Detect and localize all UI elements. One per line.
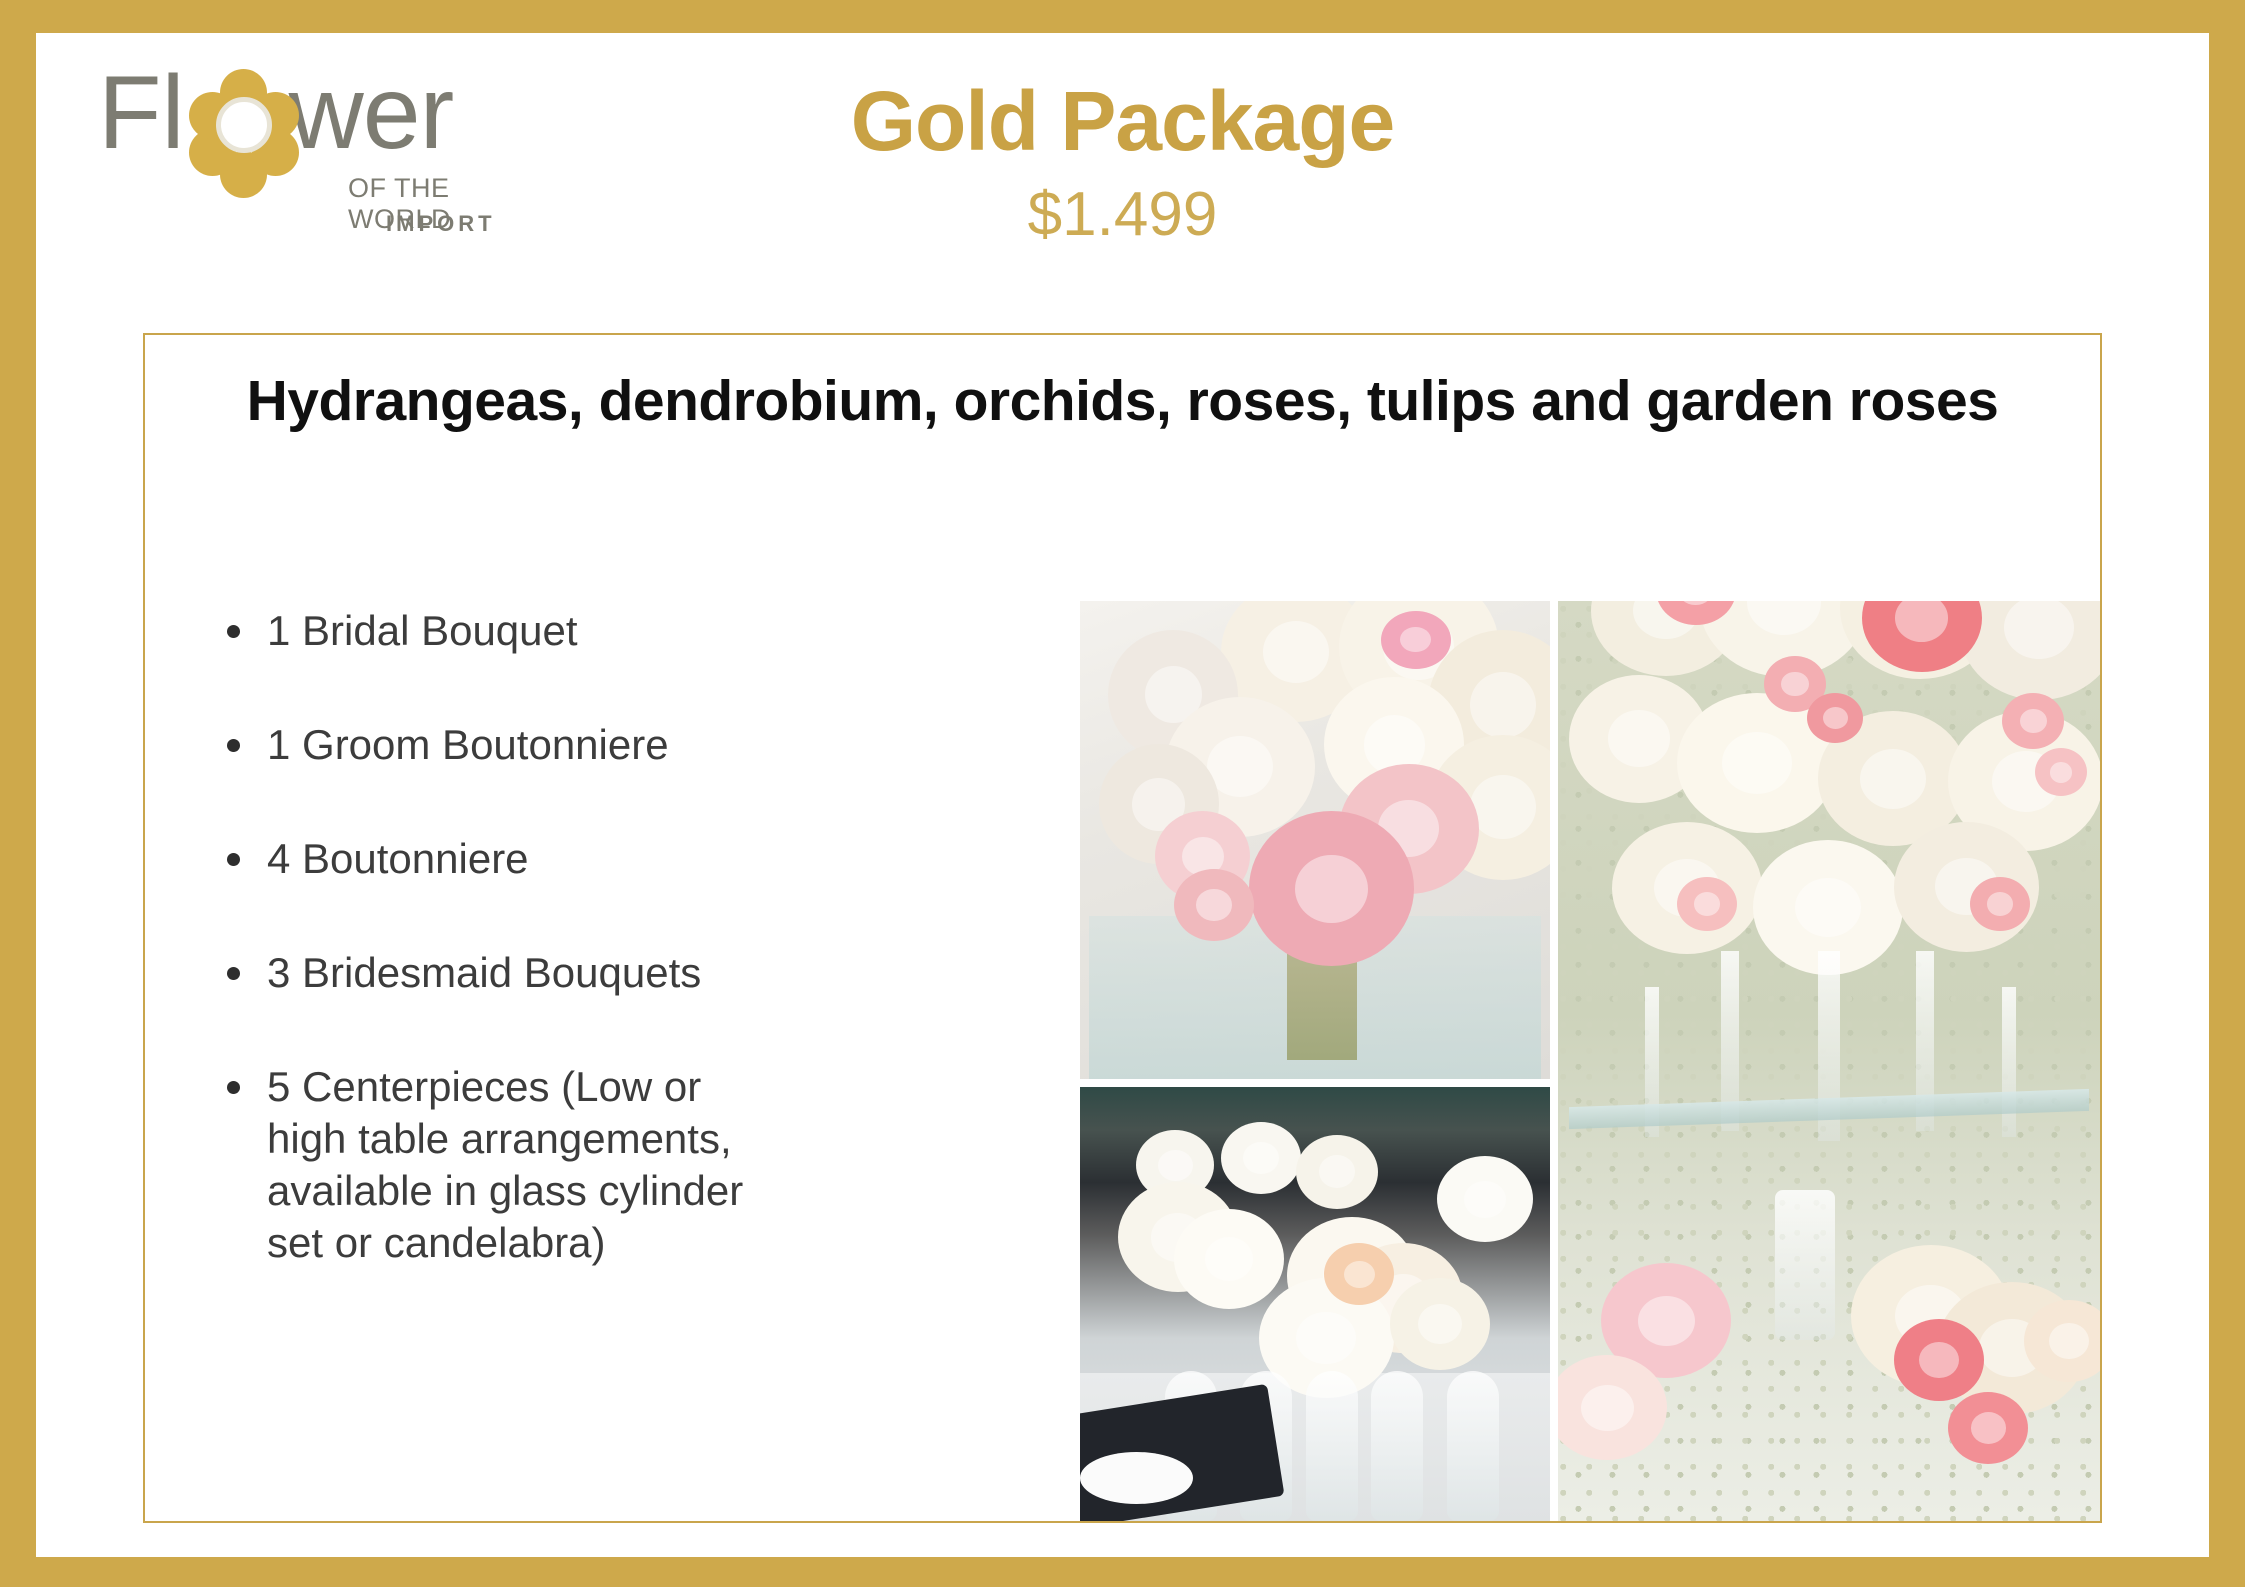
slide-header: Flwer OF THE WORLD IMPORT Gold Package $… bbox=[36, 33, 2209, 333]
flower-types-heading-line2: and garden roses bbox=[1531, 369, 1998, 433]
banquet-table-photo bbox=[1080, 1087, 1550, 1521]
list-item-label: 4 Boutonniere bbox=[267, 835, 529, 882]
list-item-label: 1 Bridal Bouquet bbox=[267, 607, 578, 654]
list-item-label: 1 Groom Boutonniere bbox=[267, 721, 669, 768]
package-price: $1.499 bbox=[36, 175, 2209, 255]
list-item-label-line3: available in glass cylinder bbox=[267, 1165, 1091, 1217]
flower-types-heading-line1: Hydrangeas, dendrobium, orchids, roses, … bbox=[247, 369, 1516, 433]
slide-gold-package: Flwer OF THE WORLD IMPORT Gold Package $… bbox=[0, 0, 2245, 1587]
package-items-list: 1 Bridal Bouquet 1 Groom Boutonniere 4 B… bbox=[211, 605, 1091, 1269]
package-title: Gold Package bbox=[36, 71, 2209, 171]
bridal-bouquet-photo bbox=[1080, 601, 1550, 1079]
list-item: 4 Boutonniere bbox=[211, 833, 1091, 885]
photo-column-right bbox=[1558, 601, 2100, 1521]
list-item-label-line4: set or candelabra) bbox=[267, 1217, 1091, 1269]
list-item: 1 Groom Boutonniere bbox=[211, 719, 1091, 771]
list-item-label-line2: high table arrangements, bbox=[267, 1113, 1091, 1165]
list-item-label-line1: 5 Centerpieces (Low or bbox=[267, 1061, 1091, 1113]
photo-gallery bbox=[1080, 543, 2100, 1521]
card-body: 1 Bridal Bouquet 1 Groom Boutonniere 4 B… bbox=[145, 543, 2100, 1521]
list-item: 5 Centerpieces (Low or high table arrang… bbox=[211, 1061, 1091, 1269]
slide-content-area: Flwer OF THE WORLD IMPORT Gold Package $… bbox=[36, 33, 2209, 1557]
candelabra-centerpiece-photo bbox=[1558, 601, 2100, 1521]
package-details-card: Hydrangeas, dendrobium, orchids, roses, … bbox=[143, 333, 2102, 1523]
photo-column-left bbox=[1080, 601, 1550, 1521]
title-block: Gold Package $1.499 bbox=[36, 71, 2209, 255]
flower-types-heading: Hydrangeas, dendrobium, orchids, roses, … bbox=[145, 335, 2100, 435]
list-item-label: 3 Bridesmaid Bouquets bbox=[267, 949, 701, 996]
list-item: 3 Bridesmaid Bouquets bbox=[211, 947, 1091, 999]
list-item: 1 Bridal Bouquet bbox=[211, 605, 1091, 657]
